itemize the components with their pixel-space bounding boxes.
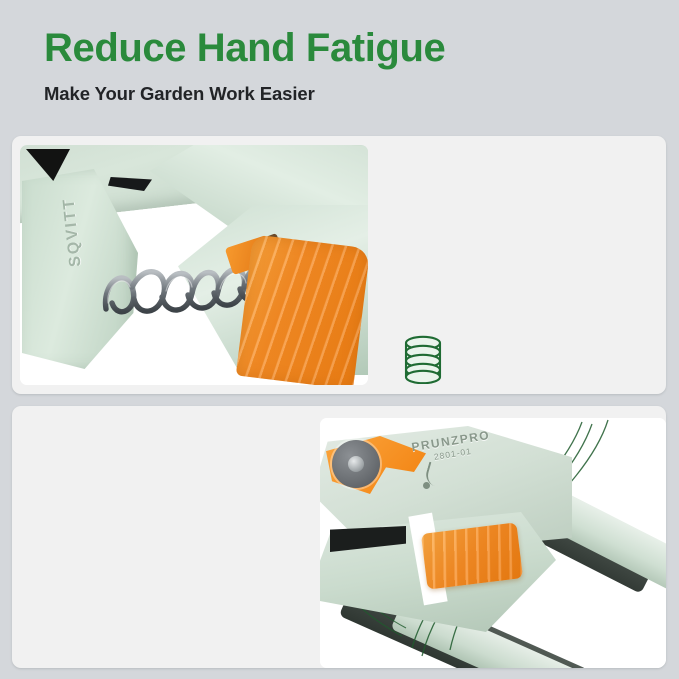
- feature-card-spring: SQVITT: [12, 136, 666, 394]
- spring-coil-icon: [400, 334, 446, 384]
- page-title: Reduce Hand Fatigue: [44, 28, 644, 68]
- orange-safety-lock: [236, 234, 368, 385]
- feature-block-spring: High Strength Spring Excellent Rebound P…: [400, 334, 650, 394]
- page-subtitle: Make Your Garden Work Easier: [44, 68, 644, 105]
- page-header: Reduce Hand Fatigue Make Your Garden Wor…: [44, 28, 644, 105]
- orange-safety-slider: [421, 522, 523, 589]
- pruning-shear-handle-photo: PRUNZPRO 2801-01: [320, 418, 666, 668]
- pivot-screw: [348, 456, 364, 472]
- feature-card-handle: Ergonomic Handle Design Comfortable and …: [12, 406, 666, 668]
- hook-marking-dot: [423, 482, 430, 489]
- pruning-shear-spring-photo: SQVITT: [20, 145, 368, 385]
